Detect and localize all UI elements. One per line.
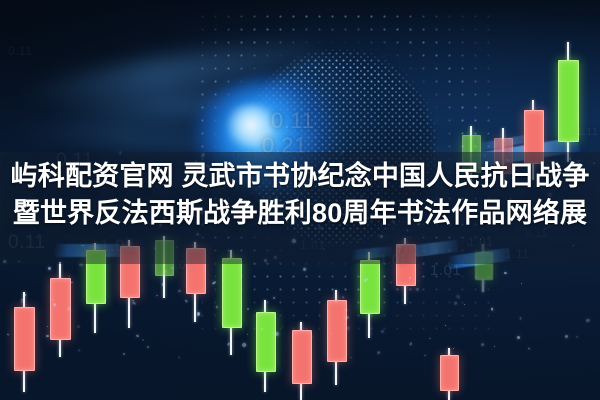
candlestick-up <box>558 42 577 162</box>
candlestick-down <box>440 348 457 400</box>
candlestick-body <box>256 312 276 372</box>
candlestick-body <box>222 258 242 328</box>
candlestick-down <box>14 292 33 392</box>
floating-number: 0.11 <box>8 44 32 58</box>
candlestick-down <box>327 290 345 385</box>
candlestick-up <box>222 250 240 355</box>
dust-particle <box>445 325 446 326</box>
candlestick-body <box>360 260 380 314</box>
page-title: 屿科配资官网 灵武市书协纪念中国人民抗日战争 暨世界反法西斯战争胜利80周年书法… <box>0 158 600 232</box>
candlestick-down <box>50 262 69 357</box>
candlestick-up <box>256 300 274 392</box>
dust-particle <box>146 345 149 347</box>
dust-particle <box>94 323 96 325</box>
candlestick-up <box>360 252 378 338</box>
dust-particle <box>519 316 521 319</box>
headline-line-2: 暨世界反法西斯战争胜利80周年书法作品网络展 <box>0 195 600 232</box>
floating-number: 1.01 <box>430 262 461 279</box>
candlestick-body <box>440 355 459 391</box>
candlestick-body <box>14 307 35 371</box>
candlestick-down <box>292 322 310 400</box>
candlestick-body <box>327 300 347 362</box>
dust-particle <box>46 335 49 337</box>
candlestick-body <box>292 330 312 384</box>
dust-particle <box>247 308 249 310</box>
floating-number: 1.11 <box>576 126 599 138</box>
stock-market-banner: 0.110.210.110.111.011.011.011.011.110.11… <box>0 0 600 400</box>
dust-particle <box>282 326 283 327</box>
dust-particle <box>142 338 144 340</box>
floating-number: 0.11 <box>271 108 314 134</box>
headline-line-1: 屿科配资官网 灵武市书协纪念中国人民抗日战争 <box>0 158 600 195</box>
